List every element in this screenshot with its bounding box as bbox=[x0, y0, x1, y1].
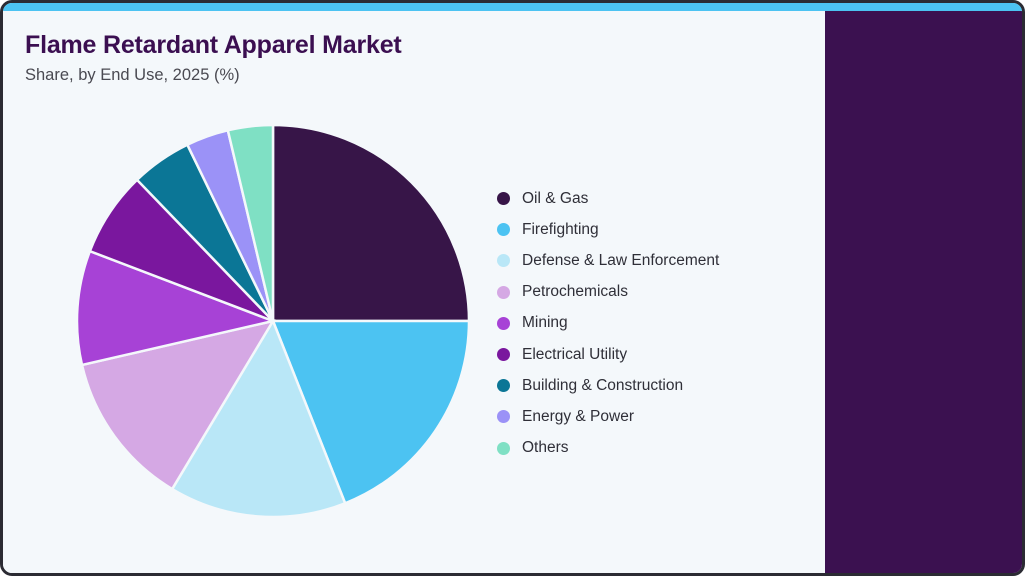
legend-color-swatch-icon bbox=[497, 410, 510, 423]
legend-item-label: Mining bbox=[522, 314, 568, 332]
legend-item[interactable]: Petrochemicals bbox=[497, 277, 817, 308]
brand-panel: GRAND VIEW RESEARCH $4.1B Global Market … bbox=[825, 11, 1025, 576]
legend-color-swatch-icon bbox=[497, 223, 510, 236]
legend-item-label: Others bbox=[522, 439, 569, 457]
pie-chart: Oil & Gas 25%Firefighting 19%Defense & L… bbox=[73, 121, 473, 521]
pie-slice[interactable]: Oil & Gas 25% bbox=[273, 125, 469, 321]
legend-item[interactable]: Mining bbox=[497, 308, 817, 339]
legend-item[interactable]: Defense & Law Enforcement bbox=[497, 245, 817, 276]
legend-item[interactable]: Oil & Gas bbox=[497, 183, 817, 214]
legend-item-label: Petrochemicals bbox=[522, 283, 628, 301]
legend-item[interactable]: Firefighting bbox=[497, 214, 817, 245]
legend-color-swatch-icon bbox=[497, 379, 510, 392]
legend-color-swatch-icon bbox=[497, 254, 510, 267]
legend-item[interactable]: Energy & Power bbox=[497, 401, 817, 432]
legend-item-label: Oil & Gas bbox=[522, 190, 588, 208]
legend-item[interactable]: Others bbox=[497, 433, 817, 464]
chart-area: Flame Retardant Apparel Market Share, by… bbox=[3, 11, 825, 576]
legend-item[interactable]: Electrical Utility bbox=[497, 339, 817, 370]
page-subtitle: Share, by End Use, 2025 (%) bbox=[25, 66, 240, 85]
legend-color-swatch-icon bbox=[497, 192, 510, 205]
accent-top-bar bbox=[3, 3, 1025, 11]
legend-item-label: Firefighting bbox=[522, 221, 599, 239]
legend-color-swatch-icon bbox=[497, 286, 510, 299]
legend-item-label: Defense & Law Enforcement bbox=[522, 252, 719, 270]
page-title: Flame Retardant Apparel Market bbox=[25, 31, 402, 60]
legend-color-swatch-icon bbox=[497, 317, 510, 330]
legend-item-label: Electrical Utility bbox=[522, 346, 627, 364]
chart-card: Flame Retardant Apparel Market Share, by… bbox=[0, 0, 1025, 576]
legend-item[interactable]: Building & Construction bbox=[497, 370, 817, 401]
legend-item-label: Building & Construction bbox=[522, 377, 683, 395]
legend-item-label: Energy & Power bbox=[522, 408, 634, 426]
pie-svg: Oil & Gas 25%Firefighting 19%Defense & L… bbox=[73, 121, 473, 521]
legend-color-swatch-icon bbox=[497, 442, 510, 455]
legend-color-swatch-icon bbox=[497, 348, 510, 361]
pie-slice-group: Oil & Gas 25%Firefighting 19%Defense & L… bbox=[77, 125, 469, 517]
chart-legend: Oil & GasFirefightingDefense & Law Enfor… bbox=[497, 183, 817, 464]
